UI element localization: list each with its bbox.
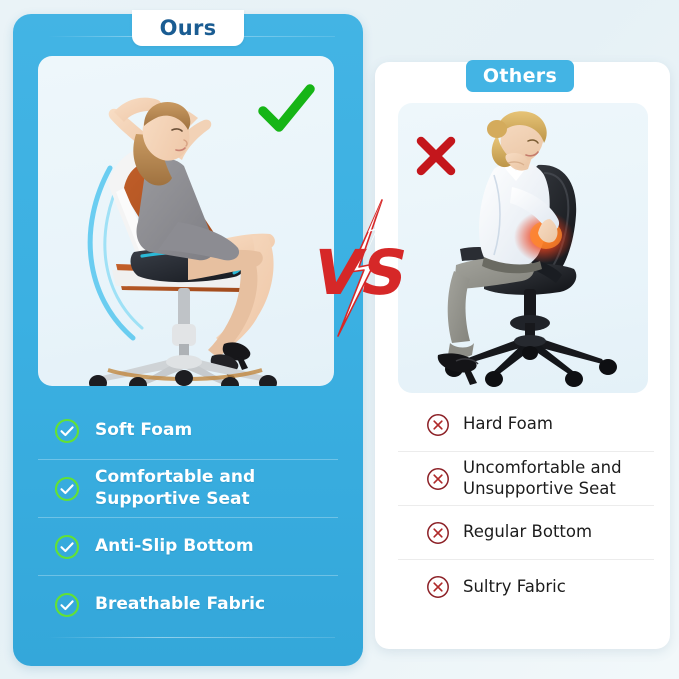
list-item: Comfortable and Supportive Seat (38, 460, 338, 518)
others-tab: Others (466, 60, 574, 92)
check-circle-icon (54, 534, 80, 560)
list-item: Uncomfortable and Unsupportive Seat (398, 452, 654, 506)
list-item: Sultry Fabric (398, 560, 654, 614)
feature-label: Regular Bottom (463, 522, 592, 543)
list-item: Breathable Fabric (38, 576, 338, 634)
check-circle-icon (54, 476, 80, 502)
ours-feature-list: Soft Foam Comfortable and Supportive Sea… (38, 402, 338, 634)
feature-label: Hard Foam (463, 414, 553, 435)
feature-label: Anti-Slip Bottom (95, 536, 254, 557)
x-circle-icon (426, 521, 450, 545)
others-photo-illustration (398, 103, 648, 393)
list-item: Regular Bottom (398, 506, 654, 560)
list-item: Hard Foam (398, 398, 654, 452)
others-tab-label: Others (483, 65, 557, 87)
list-item: Anti-Slip Bottom (38, 518, 338, 576)
feature-label: Soft Foam (95, 420, 192, 441)
x-circle-icon (426, 467, 450, 491)
feature-label: Comfortable and Supportive Seat (95, 467, 338, 510)
feature-label: Breathable Fabric (95, 594, 265, 615)
feature-label: Uncomfortable and Unsupportive Seat (463, 458, 654, 499)
check-circle-icon (54, 592, 80, 618)
x-circle-icon (426, 575, 450, 599)
others-feature-list: Hard Foam Uncomfortable and Unsupportive… (398, 398, 654, 614)
ours-tab: Ours (132, 10, 244, 46)
ours-photo-illustration (38, 56, 334, 386)
feature-label: Sultry Fabric (463, 577, 566, 598)
check-circle-icon (54, 418, 80, 444)
ours-tab-label: Ours (160, 16, 217, 40)
comparison-infographic: Ours (0, 0, 679, 679)
ours-photo-card (38, 56, 334, 386)
x-circle-icon (426, 413, 450, 437)
list-item: Soft Foam (38, 402, 338, 460)
panel-sheen-bottom (48, 637, 335, 638)
others-photo-card (398, 103, 648, 393)
